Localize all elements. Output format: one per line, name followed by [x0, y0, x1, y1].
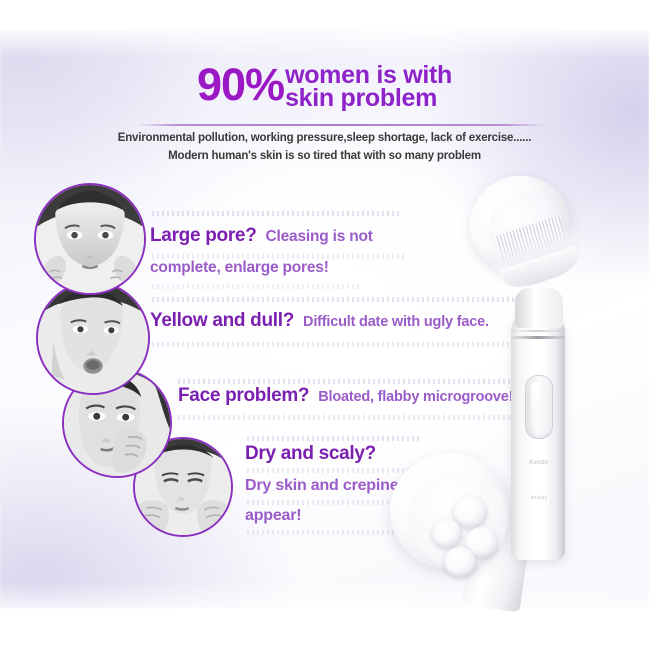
- lede-line-1: Environmental pollution, working pressur…: [0, 132, 649, 144]
- guide-row: [247, 436, 419, 441]
- brush-head-body: [457, 163, 582, 285]
- problem-answer-4b: appear!: [245, 507, 301, 525]
- headline-row: 90% women is with skin problem: [197, 62, 452, 110]
- problem-line: complete, enlarge pores!: [150, 259, 373, 277]
- problem-block-2: Yellow and dull? Difficult date with ugl…: [150, 310, 489, 332]
- problem-line: Large pore? Cleasing is not: [150, 225, 373, 247]
- guide-row: [152, 211, 402, 216]
- facial-cleansing-brush-product: Kendo beauty: [455, 160, 635, 560]
- woman-front-face-illustration: [36, 185, 144, 293]
- promo-banner: 90% women is with skin problem Environme…: [0, 0, 649, 649]
- power-button-gloss: [531, 382, 539, 426]
- power-button[interactable]: [525, 375, 553, 439]
- guide-row: [152, 284, 362, 289]
- brand-mark: Kendo: [519, 460, 559, 466]
- headline-percent: 90%: [197, 62, 284, 108]
- brush-handle-seam: [511, 336, 565, 339]
- headline-line-2: skin problem: [285, 87, 437, 110]
- problem-photo-2: [36, 281, 150, 395]
- brush-head: [448, 151, 589, 292]
- model-mark: beauty: [519, 495, 559, 501]
- problem-line: Yellow and dull? Difficult date with ugl…: [150, 310, 489, 332]
- background-fade-top: [0, 24, 649, 58]
- brush-handle-highlight: [511, 330, 565, 332]
- problem-answer-1a: Cleasing is not: [266, 228, 373, 246]
- problem-block-1: Large pore? Cleasing is not complete, en…: [150, 225, 373, 277]
- headline-text-lines: women is with skin problem: [285, 62, 452, 110]
- problem-photo-1: [34, 183, 146, 295]
- problem-question-4: Dry and scaly?: [245, 443, 376, 465]
- problem-question-1: Large pore?: [150, 225, 257, 247]
- woman-dull-skin-illustration: [38, 283, 148, 393]
- brush-neck: [515, 288, 563, 328]
- problem-answer-1b: complete, enlarge pores!: [150, 259, 329, 277]
- headline-divider: [137, 124, 545, 126]
- headline: 90% women is with skin problem: [0, 62, 649, 110]
- problem-question-3: Face problem?: [178, 385, 309, 407]
- problem-question-2: Yellow and dull?: [150, 310, 294, 332]
